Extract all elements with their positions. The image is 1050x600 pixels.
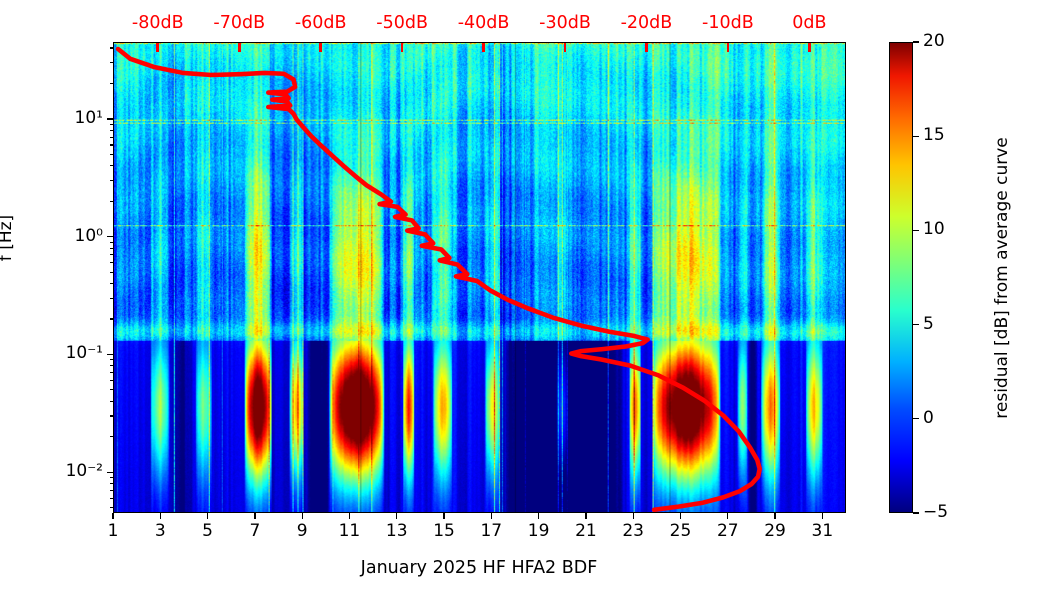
y-tick-minor: [110, 507, 114, 508]
x-tick-major: [491, 513, 492, 519]
y-tick-minor: [110, 380, 114, 381]
y-tick-minor: [110, 365, 114, 366]
y-tick-minor: [110, 254, 114, 255]
colorbar-label: residual [dB] from average curve: [992, 137, 1012, 418]
colorbar-tick-label: 15: [923, 127, 945, 144]
colorbar-tick: [913, 418, 919, 419]
spectrogram-figure: 10¹10⁰10⁻¹10⁻² 1357911131517192123252729…: [0, 0, 1050, 600]
x-tick-label: 19: [519, 523, 559, 540]
colorbar-tick: [913, 230, 919, 231]
x-tick-major: [112, 513, 113, 519]
colorbar-tick: [913, 324, 919, 325]
x-tick-label: 11: [329, 523, 369, 540]
x-tick-label: 23: [613, 523, 653, 540]
x-tick-major: [302, 513, 303, 519]
top-db-tick: [727, 43, 730, 52]
colorbar-tick: [913, 136, 919, 137]
y-tick-minor: [110, 272, 114, 273]
y-tick-major: [107, 118, 113, 119]
x-axis-label: January 2025 HF HFA2 BDF: [361, 558, 598, 578]
y-tick-minor: [110, 137, 114, 138]
y-tick-minor: [110, 283, 114, 284]
red-average-curve-line: [118, 49, 760, 510]
x-tick-major: [207, 513, 208, 519]
x-tick-label: 27: [708, 523, 748, 540]
y-tick-minor: [110, 180, 114, 181]
y-tick-minor: [110, 436, 114, 437]
x-tick-major: [396, 513, 397, 519]
top-db-label: -30dB: [520, 15, 610, 33]
y-tick-minor: [110, 401, 114, 402]
colorbar-tick: [913, 512, 919, 513]
y-tick-minor: [110, 83, 114, 84]
y-tick-minor: [110, 359, 114, 360]
colorbar-tick-label: 5: [923, 316, 934, 333]
x-tick-label: 15: [424, 523, 464, 540]
y-tick-minor: [110, 318, 114, 319]
y-tick-major: [107, 236, 113, 237]
y-tick-label: 10⁻¹: [61, 345, 103, 362]
y-tick-minor: [110, 389, 114, 390]
colorbar-tick-label: 20: [923, 33, 945, 50]
y-tick-minor: [110, 477, 114, 478]
y-tick-minor: [110, 372, 114, 373]
colorbar: [889, 42, 913, 513]
x-tick-major: [633, 513, 634, 519]
x-tick-major: [680, 513, 681, 519]
top-db-label: 0dB: [764, 15, 854, 33]
y-tick-minor: [110, 130, 114, 131]
y-tick-major: [107, 354, 113, 355]
top-db-tick: [808, 43, 811, 52]
average-spectrum-curve: [114, 43, 845, 512]
x-tick-label: 13: [377, 523, 417, 540]
x-tick-major: [349, 513, 350, 519]
x-tick-major: [822, 513, 823, 519]
x-tick-major: [254, 513, 255, 519]
y-tick-minor: [110, 154, 114, 155]
top-db-label: -70dB: [194, 15, 284, 33]
y-tick-minor: [110, 144, 114, 145]
x-tick-major: [443, 513, 444, 519]
colorbar-tick: [913, 41, 919, 42]
y-tick-label: 10⁰: [61, 228, 103, 245]
y-tick-minor: [110, 62, 114, 63]
top-db-label: -80dB: [113, 15, 203, 33]
top-db-tick: [238, 43, 241, 52]
y-axis-label: f [Hz]: [0, 198, 16, 278]
y-tick-minor: [110, 47, 114, 48]
y-tick-minor: [110, 165, 114, 166]
y-tick-minor: [110, 415, 114, 416]
x-tick-label: 1: [93, 523, 133, 540]
top-db-label: -10dB: [683, 15, 773, 33]
y-tick-label: 10¹: [61, 110, 103, 127]
top-db-tick: [645, 43, 648, 52]
x-tick-label: 29: [755, 523, 795, 540]
top-db-label: -40dB: [439, 15, 529, 33]
y-tick-minor: [110, 498, 114, 499]
top-db-tick: [401, 43, 404, 52]
colorbar-tick-label: 0: [923, 410, 934, 427]
colorbar-tick-label: −5: [923, 504, 948, 521]
x-tick-major: [727, 513, 728, 519]
y-tick-minor: [110, 124, 114, 125]
colorbar-tick-label: 10: [923, 221, 945, 238]
top-db-tick: [319, 43, 322, 52]
x-tick-major: [585, 513, 586, 519]
y-tick-minor: [110, 201, 114, 202]
y-tick-minor: [110, 483, 114, 484]
top-db-label: -50dB: [357, 15, 447, 33]
y-tick-minor: [110, 248, 114, 249]
y-tick-minor: [110, 262, 114, 263]
top-db-tick: [482, 43, 485, 52]
y-tick-minor: [110, 242, 114, 243]
x-tick-label: 7: [235, 523, 275, 540]
x-tick-label: 17: [471, 523, 511, 540]
top-db-label: -60dB: [276, 15, 366, 33]
top-db-label: -20dB: [601, 15, 691, 33]
y-tick-minor: [110, 490, 114, 491]
x-tick-major: [538, 513, 539, 519]
top-db-tick: [156, 43, 159, 52]
x-tick-label: 9: [282, 523, 322, 540]
x-tick-major: [774, 513, 775, 519]
x-tick-label: 5: [188, 523, 228, 540]
x-tick-label: 25: [660, 523, 700, 540]
x-tick-label: 21: [566, 523, 606, 540]
top-db-tick: [564, 43, 567, 52]
y-tick-minor: [110, 298, 114, 299]
spectrogram-plot-area: [113, 42, 846, 513]
x-tick-label: 3: [140, 523, 180, 540]
x-tick-major: [160, 513, 161, 519]
x-tick-label: 31: [802, 523, 842, 540]
y-tick-label: 10⁻²: [61, 463, 103, 480]
y-tick-major: [107, 472, 113, 473]
